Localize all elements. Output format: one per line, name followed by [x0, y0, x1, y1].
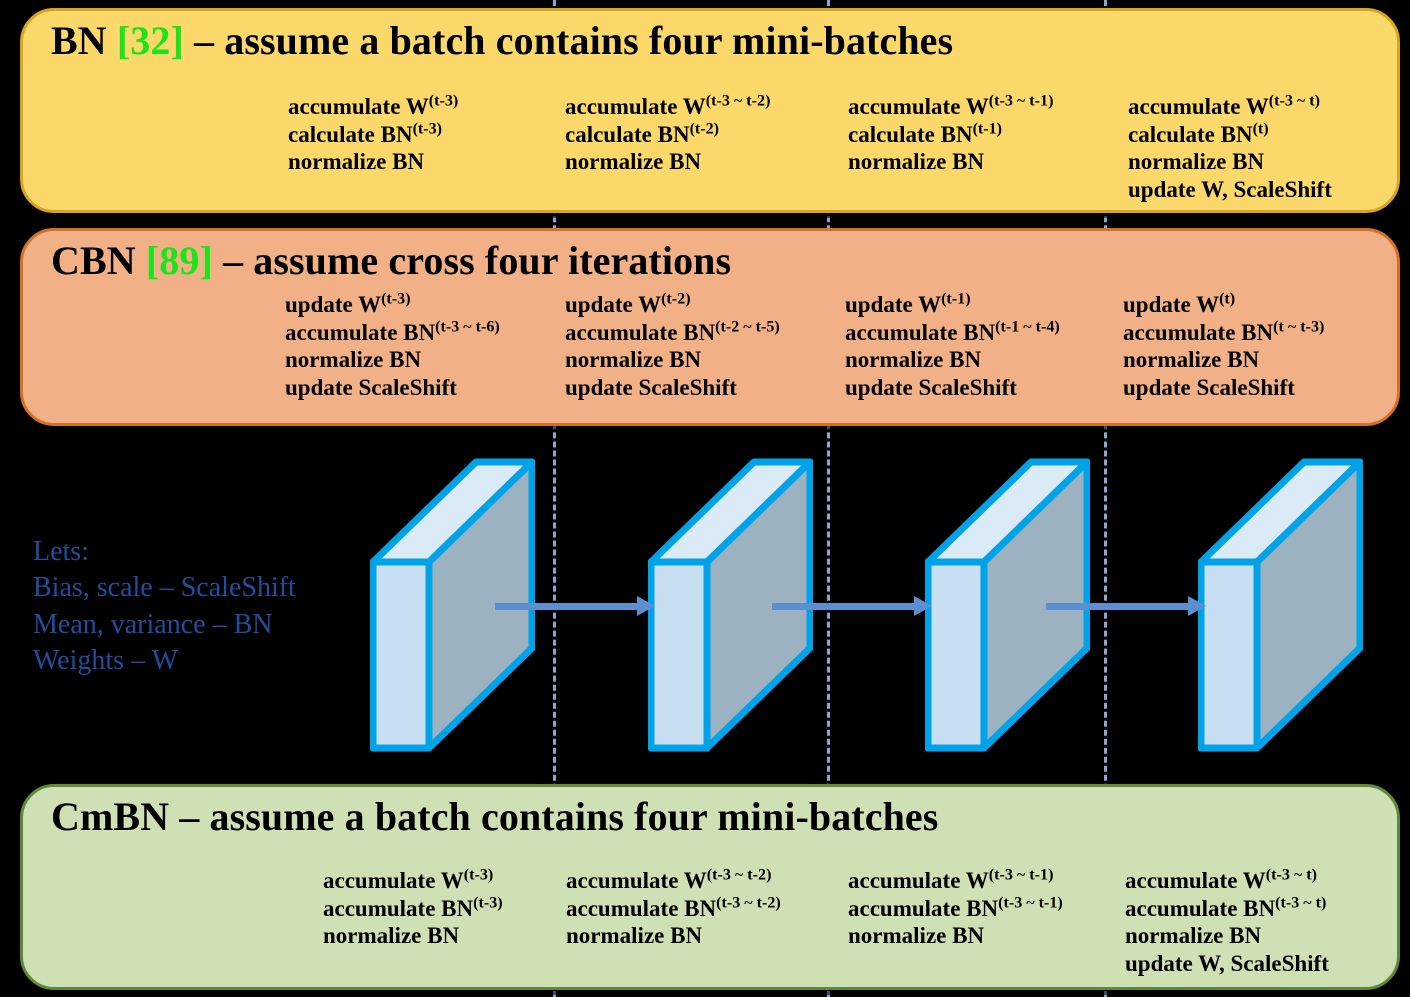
- step-text: accumulate BN: [565, 320, 715, 345]
- step-line: update W(t-3): [285, 291, 500, 319]
- step-line: update W(t-2): [565, 291, 780, 319]
- step-text: normalize BN: [848, 923, 984, 948]
- step-text: calculate BN: [565, 122, 690, 147]
- bn-column-4: accumulate W(t-3 ~ t) calculate BN(t) no…: [1128, 93, 1332, 203]
- step-line: normalize BN: [323, 922, 503, 950]
- step-text: update W: [1123, 292, 1219, 317]
- step-text: normalize BN: [1128, 149, 1264, 174]
- step-line: calculate BN(t-2): [565, 121, 770, 149]
- step-line: normalize BN: [1123, 346, 1324, 374]
- bn-column-3: accumulate W(t-3 ~ t-1) calculate BN(t-1…: [848, 93, 1053, 176]
- step-line: update W, ScaleShift: [1128, 176, 1332, 204]
- step-line: update ScaleShift: [285, 374, 500, 402]
- step-line: calculate BN(t): [1128, 121, 1332, 149]
- cmbn-title-main: CmBN: [51, 794, 169, 839]
- step-superscript: (t-3 ~ t-6): [435, 318, 500, 335]
- legend-line: Mean, variance – BN: [33, 607, 296, 643]
- step-text: normalize BN: [565, 347, 701, 372]
- step-text: calculate BN: [288, 122, 413, 147]
- cmbn-title-rest: – assume a batch contains four mini-batc…: [169, 794, 938, 839]
- step-superscript: (t-1): [973, 120, 1002, 137]
- bn-column-2: accumulate W(t-3 ~ t-2) calculate BN(t-2…: [565, 93, 770, 176]
- step-superscript: (t-3 ~ t): [1275, 894, 1326, 911]
- cbn-column-1: update W(t-3) accumulate BN(t-3 ~ t-6) n…: [285, 291, 500, 401]
- step-text: accumulate BN: [566, 896, 716, 921]
- flow-arrow-3: [1046, 600, 1206, 612]
- step-text: normalize BN: [1123, 347, 1259, 372]
- cbn-column-4: update W(t) accumulate BN(t ~ t-3) norma…: [1123, 291, 1324, 401]
- step-text: update W, ScaleShift: [1125, 951, 1329, 976]
- step-line: update W, ScaleShift: [1125, 950, 1329, 978]
- step-text: update W: [565, 292, 661, 317]
- step-line: normalize BN: [285, 346, 500, 374]
- step-line: normalize BN: [565, 346, 780, 374]
- cmbn-column-2: accumulate W(t-3 ~ t-2) accumulate BN(t-…: [566, 867, 781, 950]
- step-text: update ScaleShift: [1123, 375, 1295, 400]
- step-line: accumulate BN(t-3 ~ t): [1125, 895, 1329, 923]
- step-line: accumulate BN(t-1 ~ t-4): [845, 319, 1060, 347]
- step-text: accumulate BN: [285, 320, 435, 345]
- step-text: accumulate BN: [323, 896, 473, 921]
- step-superscript: (t): [1219, 290, 1235, 307]
- cmbn-column-4: accumulate W(t-3 ~ t) accumulate BN(t-3 …: [1125, 867, 1329, 977]
- step-text: accumulate W: [848, 868, 989, 893]
- flow-arrow-2: [772, 600, 932, 612]
- step-text: normalize BN: [566, 923, 702, 948]
- legend-line: Bias, scale – ScaleShift: [33, 570, 296, 606]
- step-line: update W(t-1): [845, 291, 1060, 319]
- step-line: calculate BN(t-3): [288, 121, 458, 149]
- step-line: normalize BN: [565, 148, 770, 176]
- bn-title: BN [32] – assume a batch contains four m…: [51, 17, 953, 64]
- step-line: accumulate W(t-3): [323, 867, 503, 895]
- step-text: accumulate W: [288, 94, 429, 119]
- step-text: update W: [285, 292, 381, 317]
- step-line: accumulate W(t-3): [288, 93, 458, 121]
- legend-line: Lets:: [33, 534, 296, 570]
- step-text: normalize BN: [845, 347, 981, 372]
- bn-title-rest: – assume a batch contains four mini-batc…: [184, 18, 953, 63]
- step-text: update ScaleShift: [845, 375, 1017, 400]
- step-line: normalize BN: [1128, 148, 1332, 176]
- step-superscript: (t-3): [429, 92, 458, 109]
- cbn-reference: [89]: [146, 238, 213, 283]
- step-superscript: (t-3 ~ t): [1266, 866, 1317, 883]
- step-superscript: (t-3 ~ t-1): [989, 866, 1054, 883]
- step-text: normalize BN: [288, 149, 424, 174]
- step-line: normalize BN: [848, 148, 1053, 176]
- legend-block: Lets: Bias, scale – ScaleShift Mean, var…: [33, 534, 296, 680]
- cmbn-column-3: accumulate W(t-3 ~ t-1) accumulate BN(t-…: [848, 867, 1063, 950]
- step-text: accumulate W: [1128, 94, 1269, 119]
- flow-arrow-1: [495, 600, 655, 612]
- step-superscript: (t-3): [473, 894, 502, 911]
- step-superscript: (t-3 ~ t-2): [716, 894, 781, 911]
- step-superscript: (t-2): [690, 120, 719, 137]
- cbn-column-3: update W(t-1) accumulate BN(t-1 ~ t-4) n…: [845, 291, 1060, 401]
- step-superscript: (t-3 ~ t-1): [989, 92, 1054, 109]
- step-text: accumulate W: [323, 868, 464, 893]
- legend-line: Weights – W: [33, 643, 296, 679]
- step-superscript: (t-3 ~ t-1): [998, 894, 1063, 911]
- step-text: accumulate BN: [1123, 320, 1273, 345]
- step-line: accumulate W(t-3 ~ t-1): [848, 93, 1053, 121]
- cmbn-title: CmBN – assume a batch contains four mini…: [51, 793, 938, 840]
- bn-section: BN [32] – assume a batch contains four m…: [20, 8, 1400, 213]
- step-line: normalize BN: [1125, 922, 1329, 950]
- cbn-title: CBN [89] – assume cross four iterations: [51, 237, 731, 284]
- step-line: accumulate W(t-3 ~ t): [1125, 867, 1329, 895]
- step-text: calculate BN: [1128, 122, 1253, 147]
- step-superscript: (t ~ t-3): [1273, 318, 1324, 335]
- diagram-canvas: BN [32] – assume a batch contains four m…: [0, 0, 1410, 997]
- step-text: calculate BN: [848, 122, 973, 147]
- cbn-title-rest: – assume cross four iterations: [213, 238, 731, 283]
- step-line: update ScaleShift: [565, 374, 780, 402]
- bn-reference: [32]: [117, 18, 184, 63]
- step-text: update W, ScaleShift: [1128, 177, 1332, 202]
- step-superscript: (t-3 ~ t): [1269, 92, 1320, 109]
- bn-column-1: accumulate W(t-3) calculate BN(t-3) norm…: [288, 93, 458, 176]
- step-line: accumulate W(t-3 ~ t-2): [565, 93, 770, 121]
- step-line: accumulate BN(t-3 ~ t-2): [566, 895, 781, 923]
- step-text: normalize BN: [848, 149, 984, 174]
- bn-title-main: BN: [51, 18, 107, 63]
- layer-cube-4: [1198, 455, 1363, 755]
- step-text: accumulate W: [1125, 868, 1266, 893]
- cbn-title-main: CBN: [51, 238, 136, 283]
- step-superscript: (t-3): [381, 290, 410, 307]
- step-line: calculate BN(t-1): [848, 121, 1053, 149]
- cbn-column-2: update W(t-2) accumulate BN(t-2 ~ t-5) n…: [565, 291, 780, 401]
- step-text: update ScaleShift: [565, 375, 737, 400]
- step-line: accumulate BN(t ~ t-3): [1123, 319, 1324, 347]
- step-line: normalize BN: [848, 922, 1063, 950]
- step-line: accumulate BN(t-3 ~ t-1): [848, 895, 1063, 923]
- step-line: accumulate W(t-3 ~ t-1): [848, 867, 1063, 895]
- step-line: normalize BN: [566, 922, 781, 950]
- step-superscript: (t-1): [941, 290, 970, 307]
- cmbn-section: CmBN – assume a batch contains four mini…: [20, 784, 1400, 990]
- step-superscript: (t-3): [464, 866, 493, 883]
- step-text: accumulate W: [566, 868, 707, 893]
- step-superscript: (t-3 ~ t-2): [706, 92, 771, 109]
- step-text: accumulate W: [565, 94, 706, 119]
- step-text: update ScaleShift: [285, 375, 457, 400]
- step-line: accumulate BN(t-3 ~ t-6): [285, 319, 500, 347]
- step-text: accumulate BN: [845, 320, 995, 345]
- step-line: update ScaleShift: [1123, 374, 1324, 402]
- step-text: normalize BN: [285, 347, 421, 372]
- step-text: accumulate BN: [848, 896, 998, 921]
- step-superscript: (t-2 ~ t-5): [715, 318, 780, 335]
- step-line: normalize BN: [845, 346, 1060, 374]
- cmbn-column-1: accumulate W(t-3) accumulate BN(t-3) nor…: [323, 867, 503, 950]
- step-line: accumulate W(t-3 ~ t-2): [566, 867, 781, 895]
- step-line: update ScaleShift: [845, 374, 1060, 402]
- step-line: accumulate BN(t-2 ~ t-5): [565, 319, 780, 347]
- step-text: normalize BN: [565, 149, 701, 174]
- step-superscript: (t-2): [661, 290, 690, 307]
- step-superscript: (t-1 ~ t-4): [995, 318, 1060, 335]
- step-text: normalize BN: [1125, 923, 1261, 948]
- step-text: update W: [845, 292, 941, 317]
- step-line: normalize BN: [288, 148, 458, 176]
- step-line: accumulate W(t-3 ~ t): [1128, 93, 1332, 121]
- step-superscript: (t-3): [413, 120, 442, 137]
- cbn-section: CBN [89] – assume cross four iterations …: [20, 228, 1400, 426]
- step-text: normalize BN: [323, 923, 459, 948]
- step-text: accumulate BN: [1125, 896, 1275, 921]
- step-superscript: (t): [1253, 120, 1269, 137]
- step-line: accumulate BN(t-3): [323, 895, 503, 923]
- step-superscript: (t-3 ~ t-2): [707, 866, 772, 883]
- step-text: accumulate W: [848, 94, 989, 119]
- step-line: update W(t): [1123, 291, 1324, 319]
